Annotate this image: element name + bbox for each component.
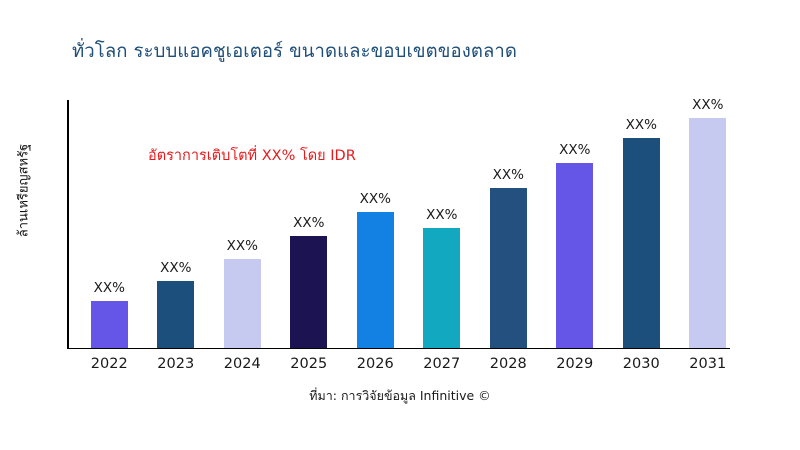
bar-value-label: XX% — [493, 167, 524, 183]
x-tick-label-2027: 2027 — [409, 356, 476, 372]
chart-title: ทั่วโลก ระบบแอคชูเอเตอร์ ขนาดและขอบเขตขอ… — [72, 37, 517, 66]
bar-group[interactable]: XX% — [91, 301, 128, 348]
bar-value-label: XX% — [692, 97, 723, 113]
x-tick-label-2028: 2028 — [475, 356, 542, 372]
bar[interactable] — [423, 228, 460, 348]
x-tick-label-2024: 2024 — [209, 356, 276, 372]
bar-value-label: XX% — [360, 191, 391, 207]
chart-container: ทั่วโลก ระบบแอคชูเอเตอร์ ขนาดและขอบเขตขอ… — [0, 0, 800, 450]
y-axis-label: ล้านเหรียญสหรัฐ — [13, 111, 34, 271]
x-tick-label-2031: 2031 — [675, 356, 742, 372]
bar-group[interactable]: XX% — [689, 118, 726, 348]
x-tick-label-2022: 2022 — [76, 356, 143, 372]
bar-group[interactable]: XX% — [490, 188, 527, 348]
bar-value-label: XX% — [559, 142, 590, 158]
bar-group[interactable]: XX% — [290, 236, 327, 348]
bar-value-label: XX% — [426, 207, 457, 223]
bar[interactable] — [91, 301, 128, 348]
bar[interactable] — [689, 118, 726, 348]
bar[interactable] — [224, 259, 261, 348]
x-tick-label-2030: 2030 — [608, 356, 675, 372]
bar[interactable] — [490, 188, 527, 348]
x-tick-label-2029: 2029 — [542, 356, 609, 372]
bar-group[interactable]: XX% — [157, 281, 194, 348]
bar-value-label: XX% — [293, 215, 324, 231]
bar[interactable] — [290, 236, 327, 348]
bar-group[interactable]: XX% — [224, 259, 261, 348]
bar-group[interactable]: XX% — [423, 228, 460, 348]
source-note: ที่มา: การวิจัยข้อมูล Infinitive © — [0, 386, 800, 406]
bar-group[interactable]: XX% — [357, 212, 394, 348]
bar[interactable] — [157, 281, 194, 348]
bar-value-label: XX% — [160, 260, 191, 276]
bar-group[interactable]: XX% — [623, 138, 660, 348]
bar[interactable] — [623, 138, 660, 348]
bar-value-label: XX% — [94, 280, 125, 296]
bar-value-label: XX% — [227, 238, 258, 254]
bar[interactable] — [357, 212, 394, 348]
bar[interactable] — [556, 163, 593, 348]
x-tick-label-2025: 2025 — [276, 356, 343, 372]
bar-group[interactable]: XX% — [556, 163, 593, 348]
bar-value-label: XX% — [626, 117, 657, 133]
x-tick-label-2026: 2026 — [342, 356, 409, 372]
x-tick-label-2023: 2023 — [143, 356, 210, 372]
